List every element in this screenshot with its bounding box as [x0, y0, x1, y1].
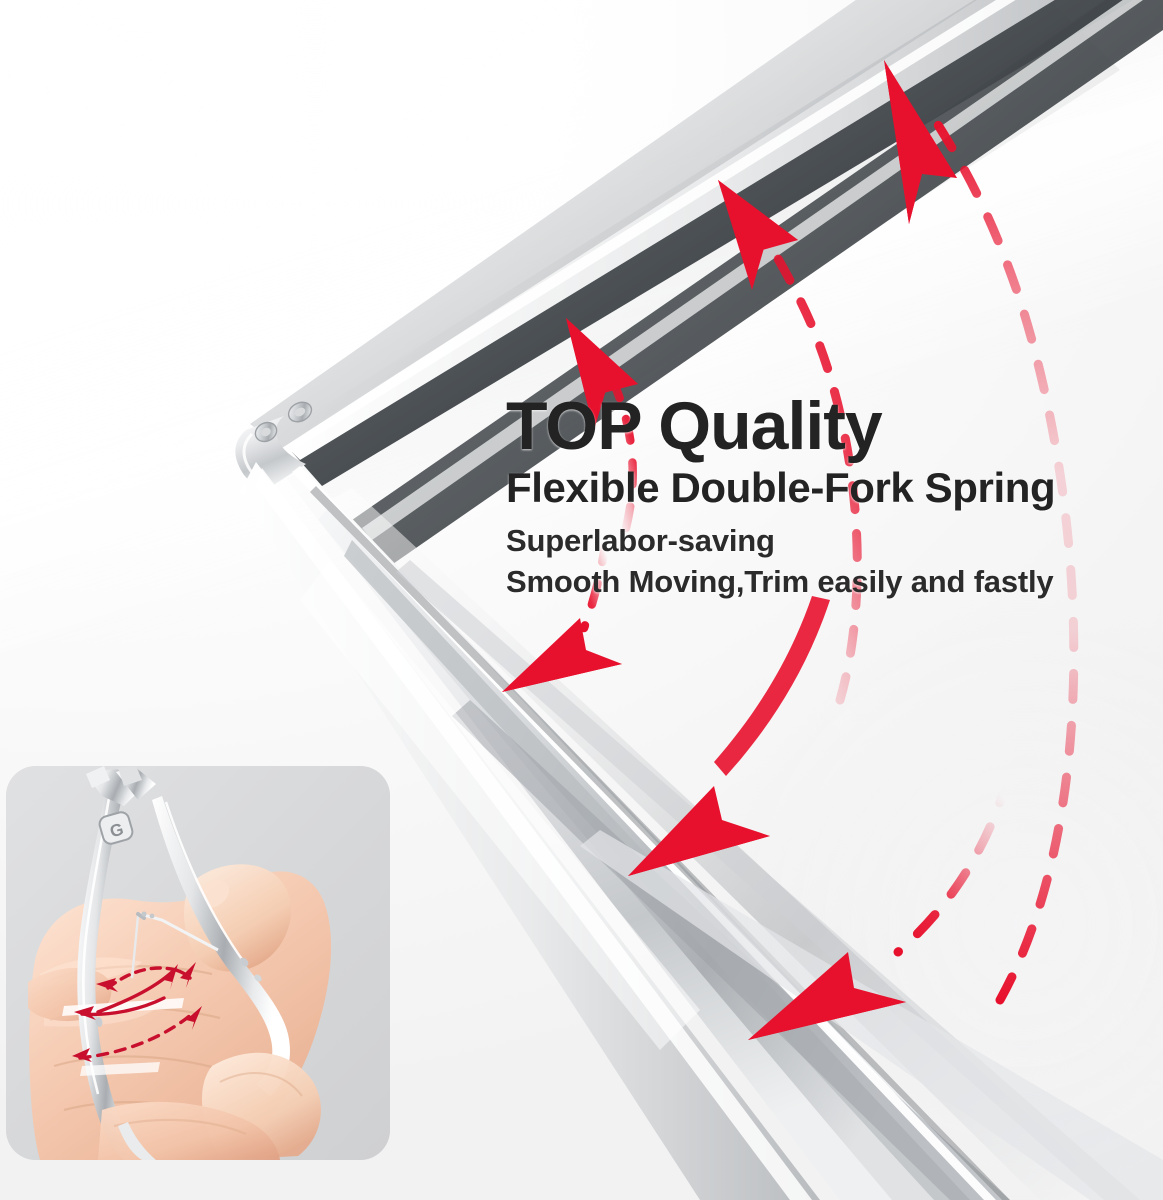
- spring-close-arrow-medium: [628, 596, 830, 876]
- hand-holding-nipper-photo: G: [6, 766, 390, 1160]
- marketing-copy-block: TOP Quality Flexible Double-Fork Spring …: [506, 392, 1106, 603]
- product-banner: TOP Quality Flexible Double-Fork Spring …: [0, 0, 1163, 1200]
- inset-illustration: G: [6, 766, 390, 1160]
- benefit-line-1: Superlabor-saving: [506, 521, 1106, 562]
- spring-close-arrow-large: [748, 778, 1008, 1040]
- headline: TOP Quality: [506, 392, 1106, 461]
- subheadline: Flexible Double-Fork Spring: [506, 465, 1106, 510]
- benefit-line-2: Smooth Moving,Trim easily and fastly: [506, 562, 1106, 603]
